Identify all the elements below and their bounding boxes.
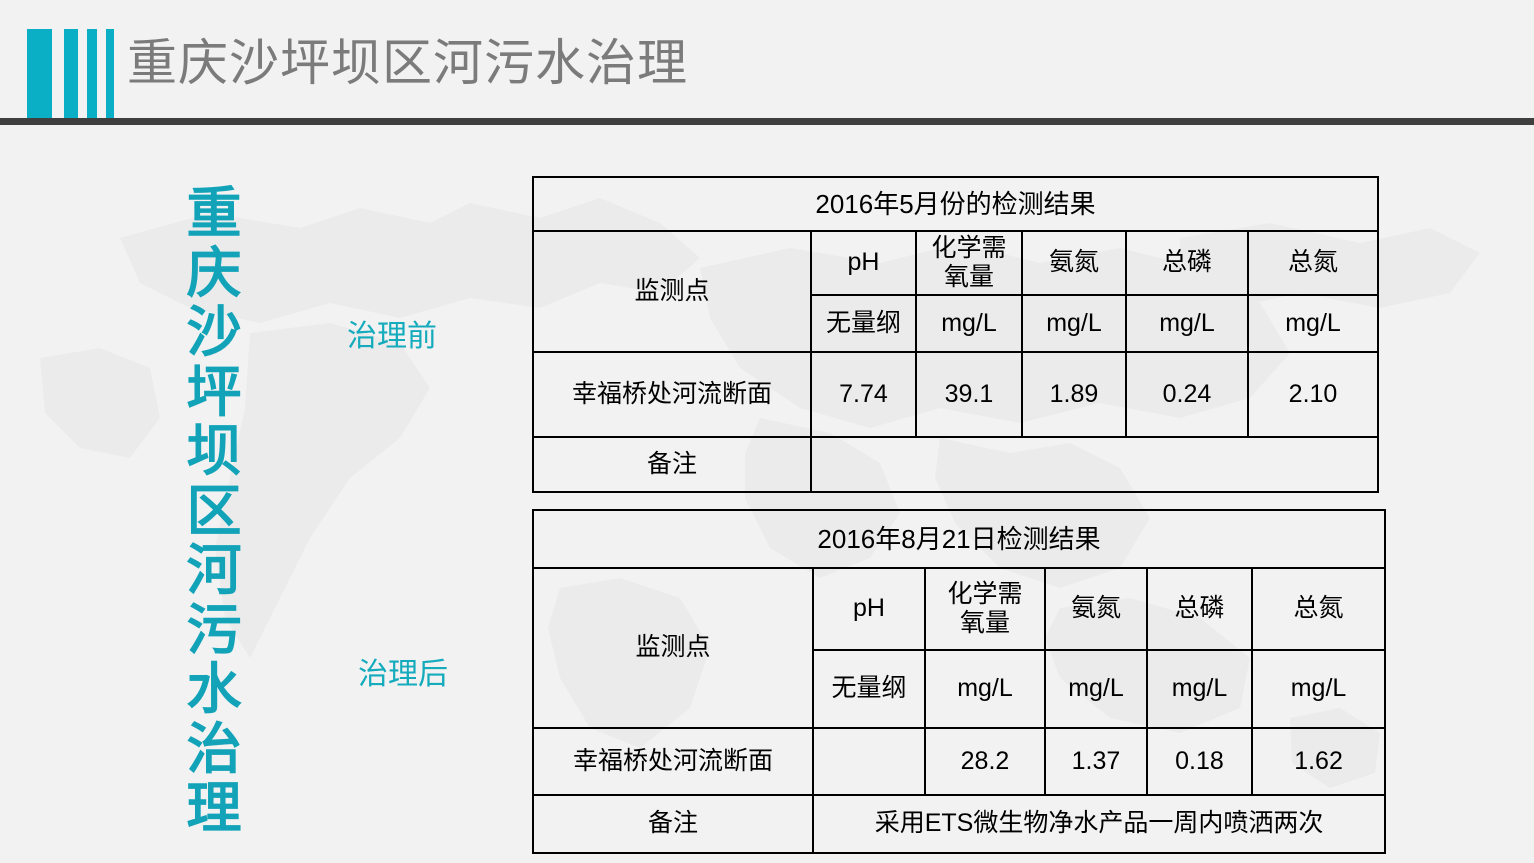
param-header-cod-line1: 化学需 bbox=[926, 580, 1044, 610]
accent-bar-2 bbox=[64, 29, 78, 120]
value-ammonia: 1.37 bbox=[1045, 728, 1147, 795]
vertical-side-title: 重 庆 沙 坪 坝 区 河 污 水 治 理 bbox=[176, 184, 252, 839]
site-label: 幸福桥处河流断面 bbox=[533, 352, 811, 437]
value-phosphorus: 0.24 bbox=[1126, 352, 1248, 437]
unit-phosphorus: mg/L bbox=[1147, 650, 1252, 728]
site-label: 幸福桥处河流断面 bbox=[533, 728, 813, 795]
param-header-nitrogen: 总氮 bbox=[1252, 568, 1385, 650]
param-header-cod-line2: 氧量 bbox=[917, 263, 1021, 293]
table-title-after: 2016年8月21日检测结果 bbox=[533, 510, 1385, 568]
table-row: 监测点 pH 化学需 氧量 氨氮 总磷 总氮 bbox=[533, 568, 1385, 650]
accent-bar-4 bbox=[106, 29, 114, 120]
table-title-before: 2016年5月份的检测结果 bbox=[533, 177, 1378, 231]
side-title-char: 水 bbox=[176, 660, 252, 720]
note-label-after: 备注 bbox=[533, 795, 813, 853]
value-ph: 7.74 bbox=[811, 352, 916, 437]
accent-bar-3 bbox=[87, 29, 97, 120]
param-header-ammonia: 氨氮 bbox=[1022, 231, 1126, 295]
row-header-label-after: 监测点 bbox=[533, 568, 813, 728]
value-cod: 39.1 bbox=[916, 352, 1022, 437]
unit-ph: 无量纲 bbox=[813, 650, 925, 728]
table-row: 备注 采用ETS微生物净水产品一周内喷洒两次 bbox=[533, 795, 1385, 853]
unit-ammonia: mg/L bbox=[1045, 650, 1147, 728]
value-phosphorus: 0.18 bbox=[1147, 728, 1252, 795]
side-title-char: 重 bbox=[176, 184, 252, 244]
value-ammonia: 1.89 bbox=[1022, 352, 1126, 437]
side-title-char: 治 bbox=[176, 720, 252, 780]
value-ph bbox=[813, 728, 925, 795]
value-nitrogen: 2.10 bbox=[1248, 352, 1378, 437]
side-title-char: 庆 bbox=[176, 244, 252, 304]
header-divider bbox=[0, 118, 1534, 125]
table-row: 幸福桥处河流断面 7.74 39.1 1.89 0.24 2.10 bbox=[533, 352, 1378, 437]
unit-ammonia: mg/L bbox=[1022, 295, 1126, 352]
side-title-char: 坝 bbox=[176, 422, 252, 482]
table-row: 2016年5月份的检测结果 bbox=[533, 177, 1378, 231]
unit-nitrogen: mg/L bbox=[1252, 650, 1385, 728]
accent-bar-1 bbox=[27, 29, 52, 120]
unit-nitrogen: mg/L bbox=[1248, 295, 1378, 352]
value-cod: 28.2 bbox=[925, 728, 1045, 795]
param-header-cod: 化学需 氧量 bbox=[916, 231, 1022, 295]
results-table-after: 2016年8月21日检测结果 监测点 pH 化学需 氧量 氨氮 总磷 总氮 无量… bbox=[532, 509, 1386, 854]
param-header-cod: 化学需 氧量 bbox=[925, 568, 1045, 650]
side-title-char: 区 bbox=[176, 482, 252, 542]
value-nitrogen: 1.62 bbox=[1252, 728, 1385, 795]
param-header-cod-line2: 氧量 bbox=[926, 609, 1044, 639]
table-row: 2016年8月21日检测结果 bbox=[533, 510, 1385, 568]
unit-phosphorus: mg/L bbox=[1126, 295, 1248, 352]
param-header-phosphorus: 总磷 bbox=[1126, 231, 1248, 295]
stage-label-before: 治理前 bbox=[347, 320, 437, 354]
param-header-ph: pH bbox=[811, 231, 916, 295]
slide-header: 重庆沙坪坝区河污水治理 bbox=[0, 0, 1534, 124]
unit-ph: 无量纲 bbox=[811, 295, 916, 352]
side-title-char: 理 bbox=[176, 779, 252, 839]
side-title-char: 沙 bbox=[176, 303, 252, 363]
stage-label-after: 治理后 bbox=[358, 658, 448, 692]
table-row: 备注 bbox=[533, 437, 1378, 492]
note-value-before bbox=[811, 437, 1378, 492]
note-value-after: 采用ETS微生物净水产品一周内喷洒两次 bbox=[813, 795, 1385, 853]
side-title-char: 河 bbox=[176, 541, 252, 601]
unit-cod: mg/L bbox=[925, 650, 1045, 728]
unit-cod: mg/L bbox=[916, 295, 1022, 352]
table-row: 监测点 pH 化学需 氧量 氨氮 总磷 总氮 bbox=[533, 231, 1378, 295]
param-header-cod-line1: 化学需 bbox=[917, 234, 1021, 264]
note-label-before: 备注 bbox=[533, 437, 811, 492]
side-title-char: 污 bbox=[176, 601, 252, 661]
param-header-ammonia: 氨氮 bbox=[1045, 568, 1147, 650]
row-header-label-before: 监测点 bbox=[533, 231, 811, 352]
param-header-nitrogen: 总氮 bbox=[1248, 231, 1378, 295]
param-header-ph: pH bbox=[813, 568, 925, 650]
param-header-phosphorus: 总磷 bbox=[1147, 568, 1252, 650]
results-table-before: 2016年5月份的检测结果 监测点 pH 化学需 氧量 氨氮 总磷 总氮 无量纲… bbox=[532, 176, 1379, 493]
table-row: 幸福桥处河流断面 28.2 1.37 0.18 1.62 bbox=[533, 728, 1385, 795]
page-title: 重庆沙坪坝区河污水治理 bbox=[127, 30, 688, 96]
side-title-char: 坪 bbox=[176, 363, 252, 423]
